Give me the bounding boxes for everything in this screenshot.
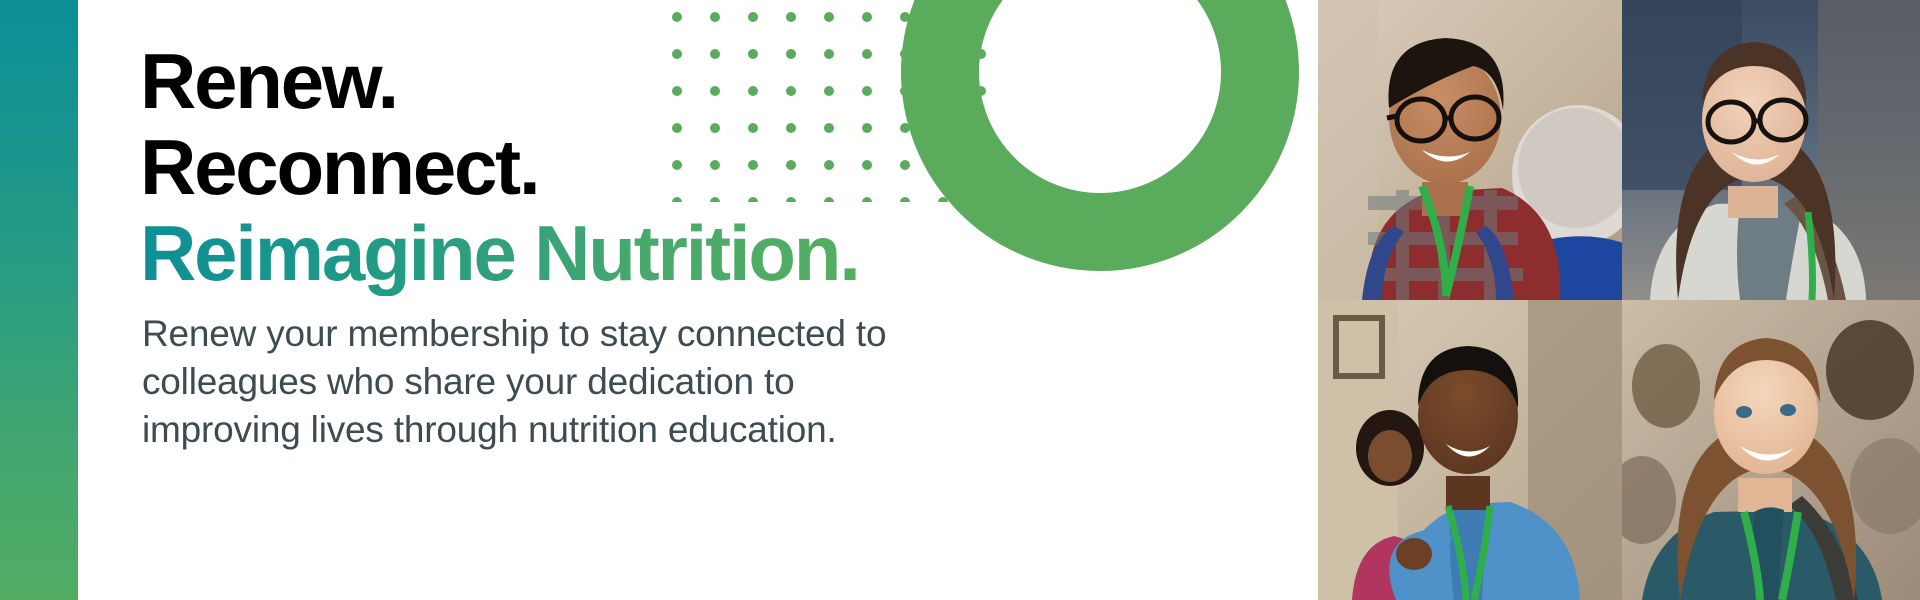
- headline-line-3: Reimagine Nutrition.: [140, 210, 859, 296]
- dot-grid-decoration: [672, 12, 1012, 202]
- photo-top-left: [1318, 0, 1622, 300]
- photo-bottom-left: [1318, 300, 1622, 600]
- accent-gradient-bar: [0, 0, 78, 600]
- photo-bottom-right: [1622, 300, 1920, 600]
- photo-mosaic: [1318, 0, 1920, 600]
- subcopy-line-2: colleagues who share your dedication to: [142, 358, 1072, 406]
- banner-subcopy: Renew your membership to stay connected …: [142, 310, 1072, 454]
- membership-renewal-banner: Renew. Reconnect. Reimagine Nutrition. R…: [0, 0, 1920, 600]
- subcopy-line-3: improving lives through nutrition educat…: [142, 406, 1072, 454]
- photo-top-right: [1622, 0, 1920, 300]
- subcopy-line-1: Renew your membership to stay connected …: [142, 310, 1072, 358]
